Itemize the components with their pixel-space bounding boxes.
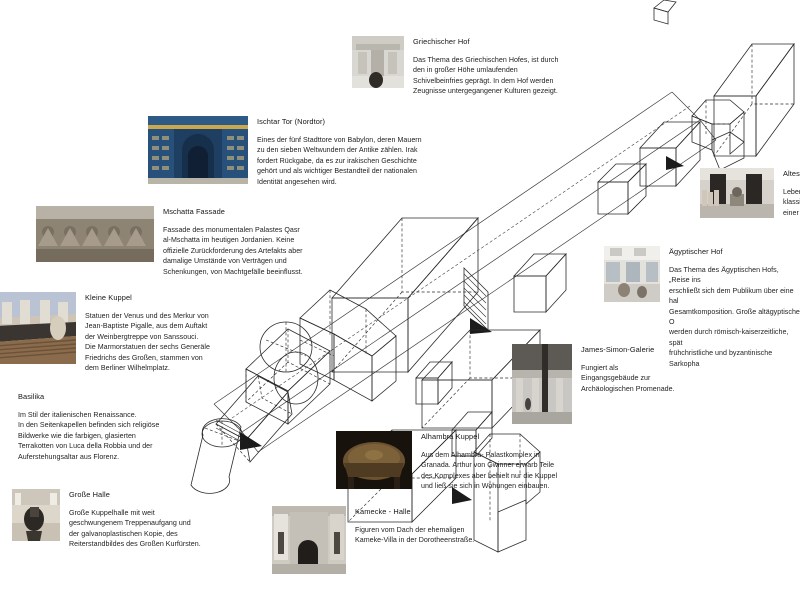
photo-aegyptischer-hof <box>604 246 660 302</box>
annotation-alhambra-kuppel[interactable]: Alhambra Kuppel Aus dem Alhambra- Palast… <box>336 431 616 492</box>
annotation-kamecke-halle[interactable]: Kamecke - Halle Figuren vom Dach der ehe… <box>272 506 532 574</box>
annotation-basilika[interactable]: Basilika Im Stil der italienischen Renai… <box>18 391 233 462</box>
photo-griechischer-hof <box>352 36 404 88</box>
annotation-text: Kamecke - Halle Figuren vom Dach der ehe… <box>355 506 474 546</box>
photo-kamecke-halle <box>272 506 346 574</box>
annotation-text: Basilika Im Stil der italienischen Renai… <box>18 391 233 462</box>
photo-ischtar-tor <box>148 116 248 184</box>
annotation-title: Mschatta Fassade <box>163 207 303 217</box>
photo-altes-museum <box>700 168 774 218</box>
annotation-title: Ägyptischer Hof <box>669 247 800 257</box>
annotation-body: Statuen der Venus und des Merkur von Jea… <box>85 311 210 373</box>
annotation-text: Mschatta Fassade Fassade des monumentale… <box>163 206 303 277</box>
annotation-title: Kamecke - Halle <box>355 507 474 517</box>
annotation-body: Figuren vom Dach der ehemaligen Kameke-V… <box>355 525 474 546</box>
annotation-aegyptischer-hof[interactable]: Ägyptischer Hof Das Thema des Ägyptische… <box>604 246 800 369</box>
annotation-altes-museum[interactable]: Altes Leben klassi einer <box>700 168 800 218</box>
annotation-kleine-kuppel[interactable]: Kleine Kuppel Statuen der Venus und des … <box>0 292 256 373</box>
annotation-text: Alhambra Kuppel Aus dem Alhambra- Palast… <box>421 431 557 492</box>
annotation-body: Das Thema des Ägyptischen Hofs, „Reise i… <box>669 265 800 369</box>
photo-alhambra-kuppel <box>336 431 412 489</box>
volume-kuppel-cylinders <box>260 322 318 404</box>
photo-mschatta-fassade <box>36 206 154 262</box>
annotation-title: Große Halle <box>69 490 201 500</box>
annotation-text: Griechischer Hof Das Thema des Griechisc… <box>413 36 558 97</box>
annotation-title: Ischtar Tor (Nordtor) <box>257 117 422 127</box>
annotation-body: Im Stil der italienischen Renaissance. I… <box>18 410 233 462</box>
annotation-title: Kleine Kuppel <box>85 293 210 303</box>
photo-kleine-kuppel <box>0 292 76 364</box>
annotation-title: Alhambra Kuppel <box>421 432 557 442</box>
annotation-mschatta-fassade[interactable]: Mschatta Fassade Fassade des monumentale… <box>36 206 336 277</box>
annotation-text: Ischtar Tor (Nordtor) Eines der fünf Sta… <box>257 116 422 187</box>
annotation-body: Aus dem Alhambra- Palastkomplex in Grana… <box>421 450 557 492</box>
annotation-title: Griechischer Hof <box>413 37 558 47</box>
annotation-text: Kleine Kuppel Statuen der Venus und des … <box>85 292 210 373</box>
annotation-body: Das Thema des Griechischen Hofes, ist du… <box>413 55 558 97</box>
annotation-text: Altes Leben klassi einer <box>783 168 800 218</box>
annotation-text: Ägyptischer Hof Das Thema des Ägyptische… <box>669 246 800 369</box>
photo-grosse-halle <box>12 489 60 541</box>
annotation-text: Große Halle Große Kuppelhalle mit weit g… <box>69 489 201 550</box>
annotation-body: Leben klassi einer <box>783 187 800 218</box>
annotation-ischtar-tor[interactable]: Ischtar Tor (Nordtor) Eines der fünf Sta… <box>148 116 448 187</box>
volume-yellow-l <box>300 290 396 401</box>
annotation-grosse-halle[interactable]: Große Halle Große Kuppelhalle mit weit g… <box>12 489 242 550</box>
volume-griechischer-hof <box>332 218 492 372</box>
annotation-body: Fassade des monumentalen Palastes Qasr a… <box>163 225 303 277</box>
photo-james-simon-galerie <box>512 344 572 424</box>
annotation-body: Große Kuppelhalle mit weit geschwungenem… <box>69 508 201 550</box>
annotation-body: Eines der fünf Stadttore von Babylon, de… <box>257 135 422 187</box>
diagram-canvas: .e { stroke:#2b2b2b; stroke-width:0.8; f… <box>0 0 800 600</box>
annotation-title: Basilika <box>18 392 233 402</box>
annotation-title: Altes <box>783 169 800 179</box>
annotation-griechischer-hof[interactable]: Griechischer Hof Das Thema des Griechisc… <box>352 36 612 97</box>
